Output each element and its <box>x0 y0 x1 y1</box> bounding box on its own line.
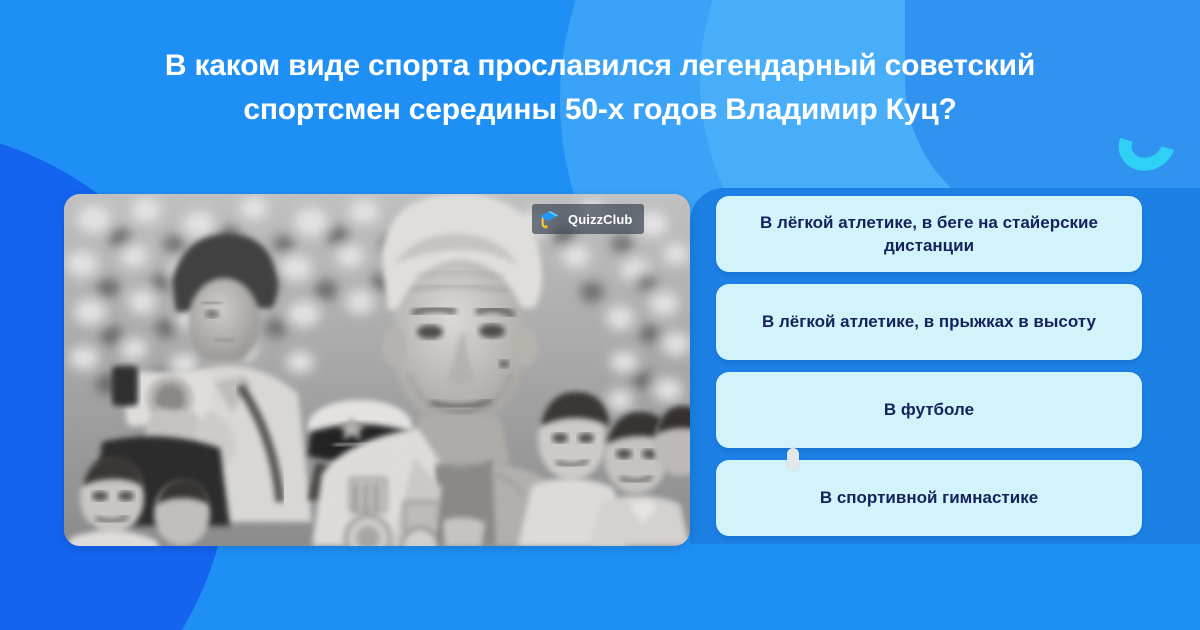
answer-option-2-label: В лёгкой атлетике, в прыжках в высоту <box>762 310 1096 333</box>
photo-illustration <box>64 194 690 546</box>
answer-option-1[interactable]: В лёгкой атлетике, в беге на стайерские … <box>716 196 1142 272</box>
question-photo <box>64 194 690 546</box>
answer-option-3[interactable]: В футболе <box>716 372 1142 448</box>
answer-option-2[interactable]: В лёгкой атлетике, в прыжках в высоту <box>716 284 1142 360</box>
question-line-1: В каком виде спорта прославился легендар… <box>60 44 1140 88</box>
question-title: В каком виде спорта прославился легендар… <box>60 44 1140 133</box>
answer-option-4[interactable]: В спортивной гимнастике <box>716 460 1142 536</box>
scroll-thumb-indicator[interactable] <box>787 448 799 470</box>
answer-options-list: В лёгкой атлетике, в беге на стайерские … <box>716 196 1142 536</box>
answer-option-4-label: В спортивной гимнастике <box>820 486 1038 509</box>
quizzclub-brand-label: QuizzClub <box>568 212 632 227</box>
answer-option-3-label: В футболе <box>884 398 974 421</box>
question-line-2: спортсмен середины 50-х годов Владимир К… <box>60 88 1140 132</box>
quizzclub-watermark: QuizzClub <box>532 204 644 234</box>
answer-option-1-label: В лёгкой атлетике, в беге на стайерские … <box>742 211 1116 258</box>
graduation-cap-icon <box>538 209 560 229</box>
